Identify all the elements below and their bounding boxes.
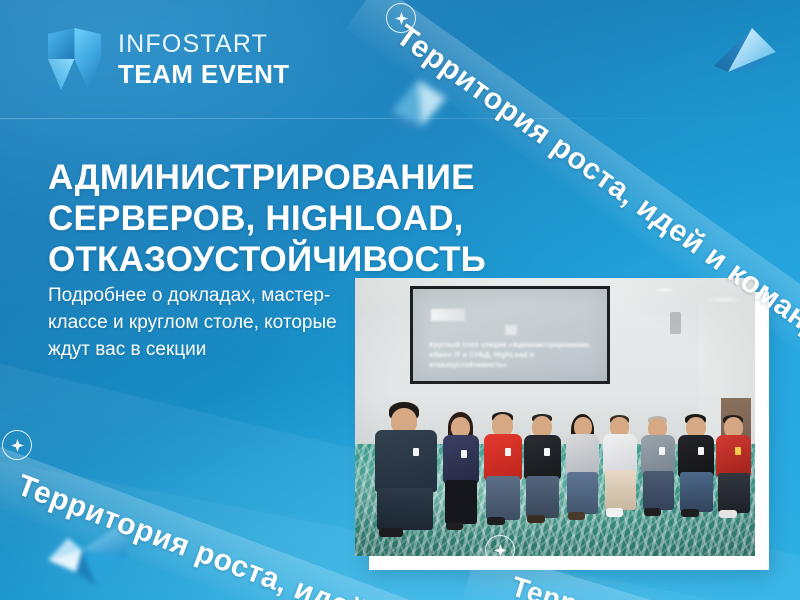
crystal-prism-icon bbox=[388, 78, 450, 136]
sparkle-star-icon bbox=[485, 535, 515, 565]
crystal-prism-icon bbox=[712, 26, 778, 88]
brand-wordmark: INFOSTART TEAM EVENT bbox=[118, 32, 290, 87]
event-photo: Круглый стол секции «Администрирование, … bbox=[355, 278, 755, 556]
sparkle-star-icon bbox=[386, 3, 416, 33]
brand-header[interactable]: INFOSTART TEAM EVENT bbox=[48, 28, 290, 90]
photo-vignette bbox=[355, 278, 755, 556]
header-divider bbox=[0, 118, 800, 119]
brand-name-line2: TEAM EVENT bbox=[118, 61, 290, 87]
headline-line-1: АДМИНИСТРИРОВАНИЕ bbox=[48, 158, 648, 199]
hero-subtitle: Подробнее о докладах, мастер-классе и кр… bbox=[48, 283, 338, 364]
page-title: АДМИНИСТРИРОВАНИЕ СЕРВЕРОВ, HIGHLOAD, ОТ… bbox=[48, 158, 648, 281]
infostart-diamond-icon bbox=[48, 28, 101, 90]
slide-canvas: INFOSTART TEAM EVENT АДМИНИСТРИРОВАНИЕ С… bbox=[0, 0, 800, 600]
event-photo-card: Круглый стол секции «Администрирование, … bbox=[355, 278, 755, 556]
crystal-prism-icon bbox=[46, 516, 132, 594]
sparkle-star-icon bbox=[2, 430, 32, 460]
brand-name-line1: INFOSTART bbox=[118, 32, 290, 57]
headline-line-3: ОТКАЗОУСТОЙЧИВОСТЬ bbox=[48, 240, 648, 281]
headline-line-2: СЕРВЕРОВ, HIGHLOAD, bbox=[48, 199, 648, 240]
